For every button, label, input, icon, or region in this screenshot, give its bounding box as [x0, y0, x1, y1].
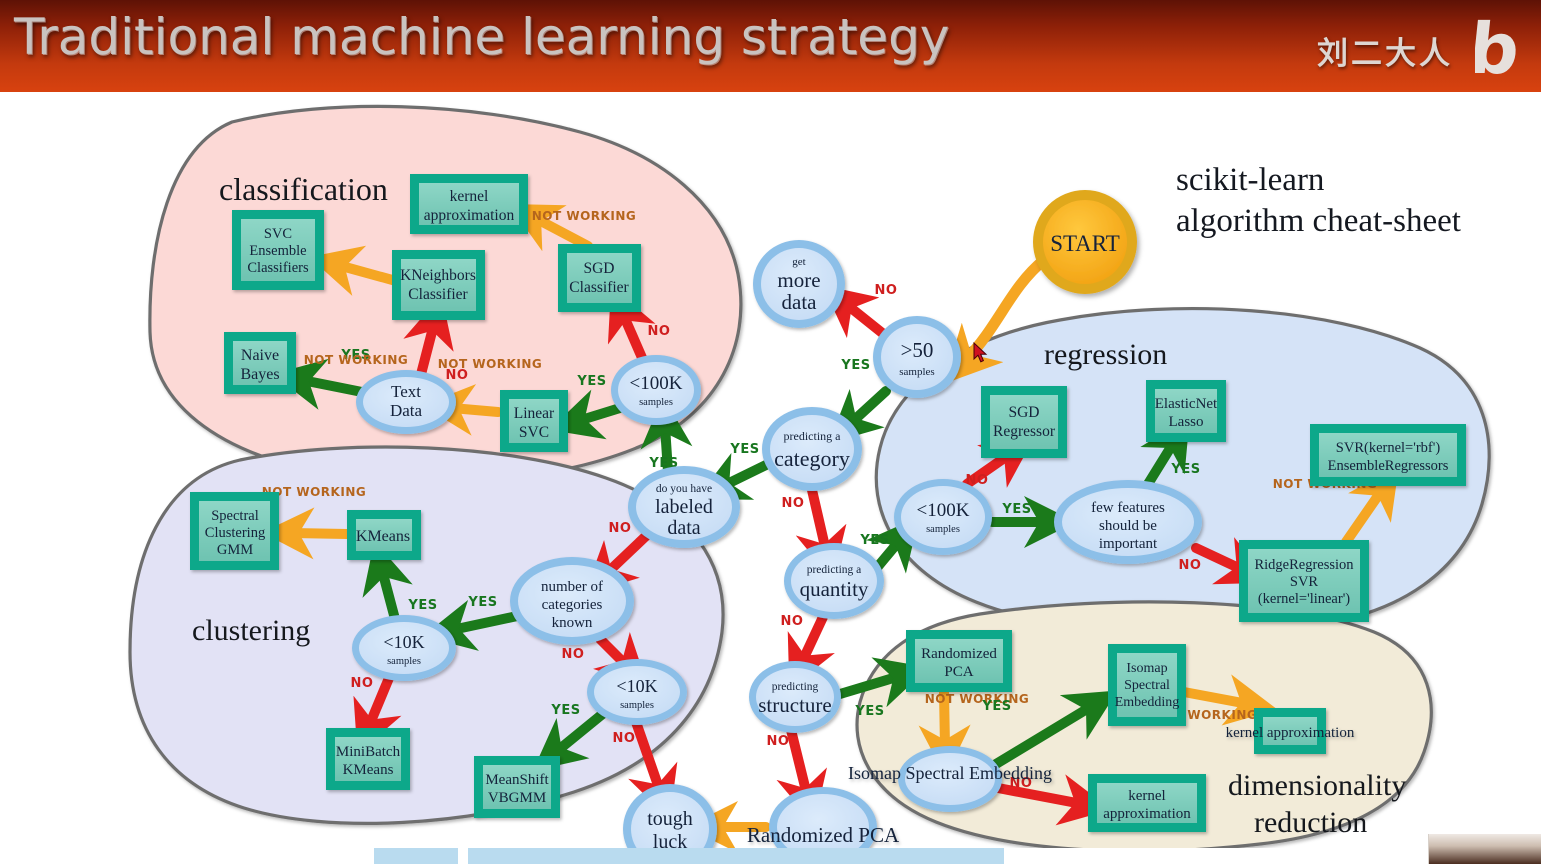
node-predicting-category[interactable]: predicting a category — [762, 407, 862, 491]
edge-linearsvc-textdata — [452, 408, 498, 412]
node-label-kernelapp2-1: kernel — [1128, 788, 1165, 804]
node-label-fewfeat-1: few features — [1091, 500, 1165, 516]
region-label-dimred-2: reduction — [1254, 806, 1367, 839]
node-label-spectralgmm-1: Spectral — [211, 508, 259, 524]
edge-label-yes: YES — [407, 598, 437, 613]
node-kernel-approximation-dimred[interactable]: kernel approximation — [1088, 774, 1206, 832]
edge-label-no: NO — [781, 614, 804, 629]
node-label-category: category — [774, 446, 850, 471]
node-number-of-categories-known[interactable]: number of categories known — [510, 557, 634, 645]
region-label-classification: classification — [219, 171, 388, 207]
node-label-structure: Randomized PCA — [747, 823, 900, 847]
node-naive-bayes[interactable]: Naive Bayes — [224, 332, 296, 394]
node-label-isomap-2: Spectral — [1124, 678, 1170, 693]
node-label-naivebayes-2: Bayes — [240, 366, 279, 383]
edge-label-no: NO — [648, 324, 671, 339]
node-sub-justlooking: predicting — [772, 681, 819, 693]
node-label-svcens-1: SVC — [264, 226, 292, 242]
node-label-meanshift-2: VBGMM — [488, 790, 546, 806]
edge-label-yes: YES — [729, 442, 759, 457]
edge-label-no: NO — [562, 647, 585, 662]
node-label-kmeans: KMeans — [356, 528, 410, 545]
node-sub-lt100kc: samples — [639, 397, 673, 408]
node-sub-moredata: get — [792, 256, 805, 268]
node-kneighbors-classifier[interactable]: KNeighbors Classifier — [392, 250, 485, 320]
edge-category-labeled — [723, 465, 766, 486]
node-spectral-clustering-gmm[interactable]: Spectral Clustering GMM — [190, 492, 279, 570]
node-sub-lt100kr: samples — [926, 524, 960, 535]
node-label-lt100kr: <100K — [917, 500, 970, 521]
edge-label-no: NO — [767, 734, 790, 749]
edge-label-not-working: NOT WORKING — [925, 692, 1029, 706]
node-svc-ensemble-classifiers[interactable]: SVC Ensemble Classifiers — [232, 210, 324, 290]
edge-label-yes: YES — [854, 704, 884, 719]
node-label-spectralgmm-3: GMM — [217, 542, 253, 558]
edge-label-yes: YES — [576, 374, 606, 389]
bilibili-glyph: b — [1475, 18, 1523, 80]
node-ridge-regression-svr[interactable]: RidgeRegression SVR (kernel='linear') — [1239, 540, 1369, 622]
node-label-ridgereg-2: SVR — [1290, 574, 1319, 590]
node-start[interactable]: START — [1033, 190, 1137, 294]
cheatsheet-title-line1: scikit-learn — [1176, 162, 1324, 198]
node-sgd-classifier[interactable]: SGD Classifier — [558, 244, 641, 312]
node-sub-lt10kcl2: samples — [620, 700, 654, 711]
edge-label-no: NO — [609, 521, 632, 536]
node-kernel-approximation-classification[interactable]: kernel approximation — [410, 174, 528, 234]
node-label-isomap-3: Embedding — [1115, 695, 1180, 710]
edge-label-not-working: NOT WORKING — [532, 209, 636, 223]
node-just-looking[interactable]: predicting structure — [749, 661, 841, 733]
node-label-lt10kcl1: <10K — [383, 632, 424, 652]
node-get-more-data[interactable]: get more data — [753, 240, 845, 328]
node-label-kneighbors-2: Classifier — [408, 286, 468, 303]
node-label-sgdclf-1: SGD — [583, 260, 614, 277]
edge-label-yes: YES — [1170, 462, 1200, 477]
node-label-meanshift-1: MeanShift — [485, 772, 549, 788]
node-isomap-spectral-embedding[interactable]: Isomap Spectral Embedding — [1108, 644, 1186, 726]
node-label-quantity: quantity — [800, 577, 869, 601]
node-label-minibatch-2: KMeans — [343, 762, 394, 778]
edge-label-not-working: NOT WORKING — [304, 353, 408, 367]
node-label-numcat-1: number of — [541, 579, 603, 595]
node-predicting-quantity[interactable]: predicting a quantity — [784, 543, 884, 619]
node-label-kernelapp1-2: approximation — [424, 207, 515, 224]
node-label-textdata-1: Text — [391, 382, 421, 401]
node-meanshift-vbgmm[interactable]: MeanShift VBGMM — [474, 756, 560, 818]
node-svr-rbf-ensemble-regressors[interactable]: SVR(kernel='rbf') EnsembleRegressors — [1310, 424, 1466, 486]
region-label-regression: regression — [1044, 338, 1167, 371]
node-label-sgdreg-2: Regressor — [993, 423, 1056, 440]
node-label-labeled-2: data — [667, 517, 700, 539]
node-label-sgdclf-2: Classifier — [569, 279, 629, 296]
edge-label-yes: YES — [1001, 502, 1031, 517]
node-label-labeled-1: labeled — [655, 496, 713, 518]
node-label-ridgereg-1: RidgeRegression — [1254, 557, 1354, 573]
node-minibatch-kmeans[interactable]: MiniBatch KMeans — [326, 728, 410, 790]
edge-label-no: NO — [1179, 558, 1202, 573]
node-label-svcens-3: Classifiers — [247, 260, 309, 276]
corner-thumbnail[interactable] — [1428, 834, 1541, 864]
node-sub-quantity: predicting a — [807, 564, 862, 576]
node-label-gt50: >50 — [901, 338, 934, 362]
node-label-kneighbors-1: KNeighbors — [400, 267, 476, 284]
node-label-linearsvc-1: Linear — [514, 405, 555, 422]
node-label-moredata-1: more — [777, 268, 820, 292]
node-label-textdata-2: Data — [390, 401, 423, 420]
node-label-randpca-2: PCA — [944, 664, 973, 680]
edge-gt50-category — [851, 391, 886, 423]
node-sgd-regressor[interactable]: SGD Regressor — [981, 386, 1067, 458]
cheatsheet-diagram: classification regression clustering dim… — [0, 92, 1541, 864]
node-label-spectralgmm-2: Clustering — [205, 525, 265, 541]
node-label-elasticnet-1: ElasticNet — [1155, 396, 1218, 412]
channel-logo-text: 刘二大人 — [1317, 28, 1453, 73]
node-label-lle: kernel approximation — [1226, 725, 1355, 741]
node-label-kernelapp1-1: kernel — [450, 188, 489, 205]
edge-label-yes: YES — [859, 533, 889, 548]
node-lt100k-samples-regression[interactable]: <100K samples — [894, 479, 992, 555]
edge-kmeans-spectralgmm — [292, 533, 347, 534]
node-label-moredata-2: data — [782, 290, 818, 314]
node-label-lt10kdr: Isomap Spectral Embedding — [848, 763, 1052, 783]
mouse-cursor-icon — [973, 342, 989, 364]
taskbar-segment-right[interactable] — [468, 848, 1004, 864]
node-label-svrrbf-1: SVR(kernel='rbf') — [1336, 440, 1441, 456]
edge-label-no: NO — [782, 496, 805, 511]
node-label-minibatch-1: MiniBatch — [336, 744, 401, 760]
node-label-lt100kc: <100K — [630, 373, 683, 394]
node-label-naivebayes-1: Naive — [241, 347, 279, 364]
edge-label-yes: YES — [550, 703, 580, 718]
node-label-ridgereg-3: (kernel='linear') — [1258, 591, 1350, 607]
node-sub-gt50: samples — [899, 366, 934, 378]
node-lt10k-samples-clustering-1[interactable]: <10K samples — [352, 615, 456, 681]
node-linear-svc[interactable]: Linear SVC — [500, 390, 568, 452]
edge-label-no: NO — [875, 283, 898, 298]
node-label-lt10kcl2: <10K — [616, 676, 657, 696]
edge-label-no: NO — [613, 731, 636, 746]
node-few-features-important[interactable]: few features should be important — [1054, 480, 1202, 564]
node-label-numcat-3: known — [552, 615, 593, 631]
edge-label-no: NO — [351, 676, 374, 691]
edge-justlooking-structure — [791, 730, 807, 795]
node-sub-category: predicting a — [784, 429, 842, 443]
node-label-isomap-1: Isomap — [1126, 661, 1167, 676]
node-labeled-data[interactable]: do you have labeled data — [628, 466, 740, 548]
node-label-fewfeat-3: important — [1099, 536, 1158, 552]
node-label-toughluck-1: tough — [647, 808, 693, 830]
region-label-clustering: clustering — [192, 614, 310, 647]
node-gt50-samples[interactable]: >50 samples — [873, 316, 961, 398]
region-label-dimred-1: dimensionality — [1228, 769, 1406, 802]
node-sub-lt10kcl1: samples — [387, 656, 421, 667]
node-label-linearsvc-2: SVC — [519, 424, 549, 441]
node-label-kernelapp2-2: approximation — [1103, 806, 1191, 822]
page-title: Traditional machine learning strategy — [14, 8, 949, 66]
node-sub-labeled: do you have — [656, 483, 712, 495]
edge-category-quantity — [812, 490, 826, 551]
node-label-start: START — [1050, 231, 1120, 256]
node-label-justlooking: structure — [758, 693, 831, 717]
edge-label-yes: YES — [467, 595, 497, 610]
taskbar-segment-left[interactable] — [374, 848, 458, 864]
bilibili-logo-icon: b — [1475, 18, 1533, 80]
node-label-svcens-2: Ensemble — [249, 243, 306, 259]
node-label-randpca-1: Randomized — [921, 646, 997, 662]
node-label-numcat-2: categories — [542, 597, 603, 613]
node-text-data[interactable]: Text Data — [356, 370, 456, 434]
node-label-elasticnet-2: Lasso — [1169, 414, 1204, 430]
node-lt10k-samples-clustering-2[interactable]: <10K samples — [587, 659, 687, 725]
edge-quantity-justlooking — [802, 617, 823, 662]
node-lt100k-samples-classification[interactable]: <100K samples — [611, 355, 701, 425]
edge-label-no: NO — [446, 368, 469, 383]
cheatsheet-title: scikit-learn algorithm cheat-sheet — [1176, 162, 1461, 239]
node-label-svrrbf-2: EnsembleRegressors — [1328, 458, 1449, 474]
node-kmeans[interactable]: KMeans — [347, 510, 421, 560]
edge-label-yes: YES — [840, 358, 870, 373]
node-label-fewfeat-2: should be — [1099, 518, 1157, 534]
edge-gt50-moredata — [846, 304, 886, 336]
node-randomized-pca[interactable]: Randomized PCA — [906, 630, 1012, 692]
slide-canvas: classification regression clustering dim… — [0, 92, 1541, 864]
edge-label-yes: YES — [981, 699, 1011, 714]
node-elasticnet-lasso[interactable]: ElasticNet Lasso — [1146, 380, 1226, 442]
taskbar-sliver — [0, 848, 1541, 864]
cheatsheet-title-line2: algorithm cheat-sheet — [1176, 203, 1461, 239]
node-label-sgdreg-1: SGD — [1008, 404, 1039, 421]
slide-header-bar: Traditional machine learning strategy 刘二… — [0, 0, 1541, 92]
